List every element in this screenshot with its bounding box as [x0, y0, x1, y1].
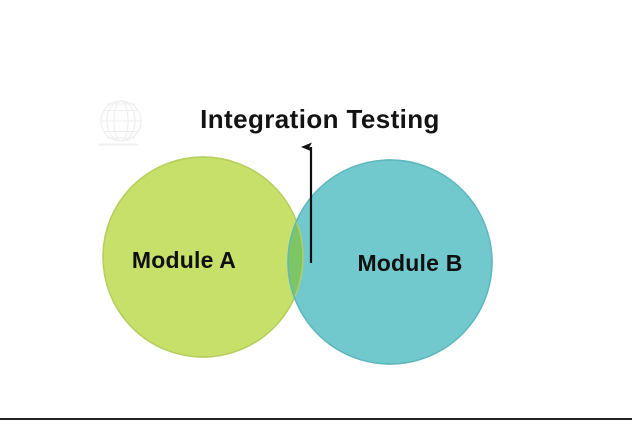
circle-label-module-b: Module B [330, 250, 490, 277]
circle-label-module-a: Module A [104, 247, 264, 274]
bottom-divider [0, 418, 632, 420]
diagram-canvas: Integration Testing [0, 0, 632, 426]
venn-diagram [0, 0, 632, 426]
